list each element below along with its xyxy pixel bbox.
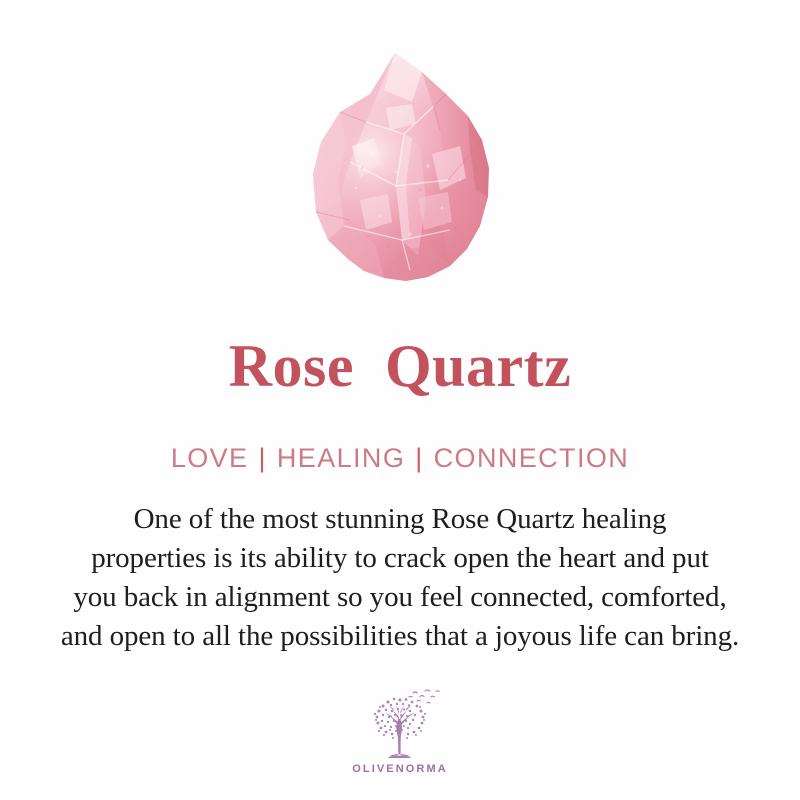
keyword-healing: HEALING	[277, 445, 405, 472]
description-line: and open to all the possibilities that a…	[30, 617, 770, 656]
brand-logo: OLIVENORMA	[0, 686, 800, 775]
description-line: properties is its ability to crack open …	[30, 539, 770, 578]
description-line: One of the most stunning Rose Quartz hea…	[30, 500, 770, 539]
keyword-separator: |	[415, 445, 423, 472]
description-line: you back in alignment so you feel connec…	[30, 578, 770, 617]
page-title: Rose Quartz	[0, 336, 800, 396]
keyword-list: LOVE | HEALING | CONNECTION	[0, 445, 800, 472]
tree-of-life-icon	[357, 686, 443, 760]
product-image	[300, 50, 500, 285]
keyword-connection: CONNECTION	[434, 445, 630, 472]
product-info-card: Rose Quartz LOVE | HEALING | CONNECTION …	[0, 0, 800, 800]
keyword-separator: |	[258, 445, 266, 472]
rose-quartz-crystal-icon	[300, 50, 500, 285]
product-description: One of the most stunning Rose Quartz hea…	[30, 500, 770, 656]
keyword-love: LOVE	[171, 445, 249, 472]
brand-name: OLIVENORMA	[352, 763, 448, 775]
